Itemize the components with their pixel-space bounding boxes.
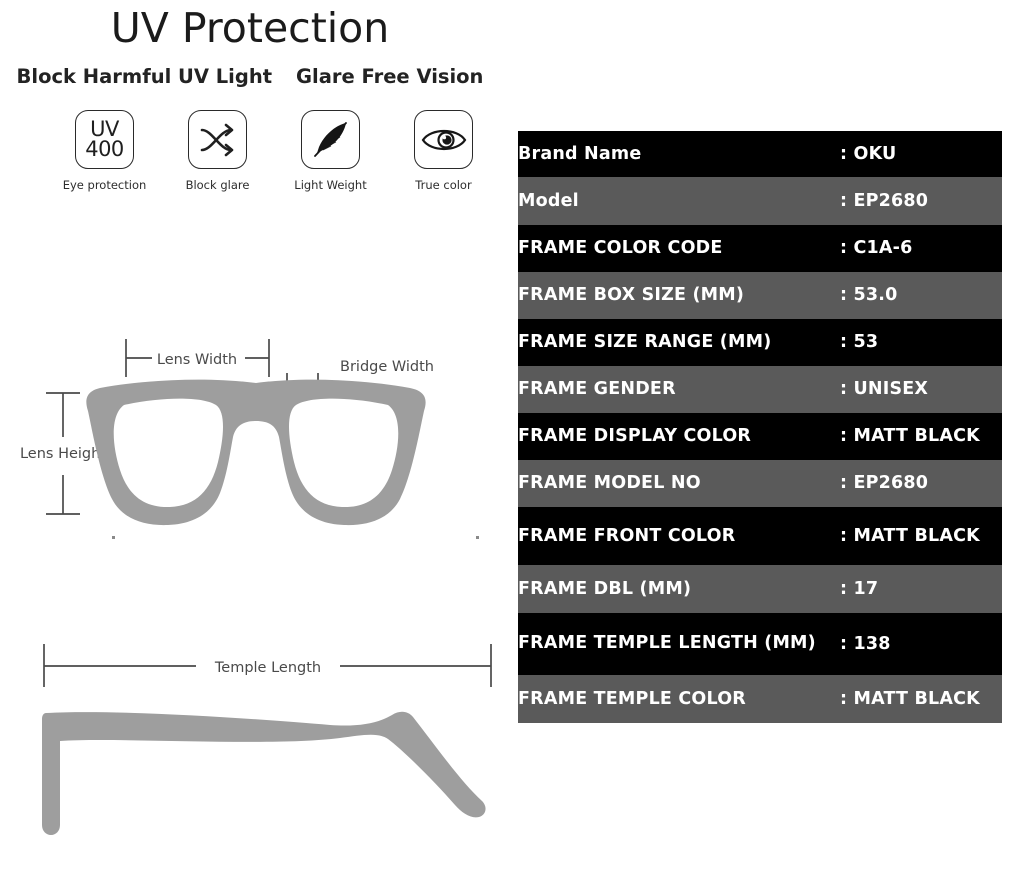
spec-value-frame-front-color: : MATT BLACK	[840, 507, 1002, 565]
spec-value-frame-size-range: : 53	[840, 319, 1002, 366]
feature-true-color: True color	[387, 110, 500, 192]
spec-label-frame-size-range: FRAME SIZE RANGE (MM)	[518, 319, 840, 366]
label-bridge-width: Bridge Width	[340, 359, 434, 375]
spec-label-frame-model-no: FRAME MODEL NO	[518, 460, 840, 507]
feather-icon	[301, 110, 360, 169]
eye-glyph	[421, 125, 467, 155]
table-row: Brand Name : OKU	[518, 131, 1002, 177]
spec-label-frame-dbl: FRAME DBL (MM)	[518, 565, 840, 613]
spec-value-brand-name: : OKU	[840, 131, 1002, 177]
spec-value-frame-model-no: : EP2680	[840, 460, 1002, 507]
spec-label-frame-display-color: FRAME DISPLAY COLOR	[518, 413, 840, 460]
spec-value-model: : EP2680	[840, 177, 1002, 225]
feature-light-weight: Light Weight	[274, 110, 387, 192]
table-row: FRAME SIZE RANGE (MM) : 53	[518, 319, 1002, 366]
spec-value-frame-temple-length: : 138	[840, 613, 1002, 675]
feather-glyph	[310, 119, 352, 161]
subtitle-block-uv: Block Harmful UV Light	[17, 65, 273, 88]
table-row: FRAME FRONT COLOR : MATT BLACK	[518, 507, 1002, 565]
front-diagram-svg: Lens Width Bridge Width Lens Height	[0, 325, 512, 575]
eyeglass-temple-measurement-diagram: Temple Length	[0, 625, 512, 855]
table-row: Model : EP2680	[518, 177, 1002, 225]
table-row: FRAME DBL (MM) : 17	[518, 565, 1002, 613]
temple-diagram-svg: Temple Length	[0, 625, 512, 855]
spec-label-frame-temple-color: FRAME TEMPLE COLOR	[518, 675, 840, 723]
feature-label-block-glare: Block glare	[186, 178, 250, 192]
tick-mark-left	[112, 536, 115, 539]
spec-label-frame-temple-length: FRAME TEMPLE LENGTH (MM)	[518, 613, 840, 675]
table-row: FRAME BOX SIZE (MM) : 53.0	[518, 272, 1002, 319]
spec-label-frame-color-code: FRAME COLOR CODE	[518, 225, 840, 272]
spec-label-frame-box-size: FRAME BOX SIZE (MM)	[518, 272, 840, 319]
feature-label-true-color: True color	[415, 178, 471, 192]
shuffle-arrows-glyph	[198, 122, 238, 158]
spec-label-model: Model	[518, 177, 840, 225]
spec-label-frame-front-color: FRAME FRONT COLOR	[518, 507, 840, 565]
table-row: FRAME TEMPLE LENGTH (MM) : 138	[518, 613, 1002, 675]
feature-label-light-weight: Light Weight	[294, 178, 366, 192]
spec-label-brand-name: Brand Name	[518, 131, 840, 177]
label-lens-width: Lens Width	[157, 352, 237, 368]
spec-value-frame-color-code: : C1A-6	[840, 225, 1002, 272]
table-row: FRAME COLOR CODE : C1A-6	[518, 225, 1002, 272]
table-row: FRAME MODEL NO : EP2680	[518, 460, 1002, 507]
spec-value-frame-dbl: : 17	[840, 565, 1002, 613]
temple-arm-shape	[42, 712, 486, 835]
feature-label-eye-protection: Eye protection	[63, 178, 147, 192]
shuffle-arrows-icon	[188, 110, 247, 169]
table-row: FRAME GENDER : UNISEX	[518, 366, 1002, 413]
spec-value-frame-temple-color: : MATT BLACK	[840, 675, 1002, 723]
feature-block-glare: Block glare	[161, 110, 274, 192]
tick-mark-right	[476, 536, 479, 539]
spec-label-frame-gender: FRAME GENDER	[518, 366, 840, 413]
table-row: FRAME TEMPLE COLOR : MATT BLACK	[518, 675, 1002, 723]
uv400-icon: UV 400	[75, 110, 134, 169]
spec-table-body: Brand Name : OKU Model : EP2680 FRAME CO…	[518, 131, 1002, 723]
product-specification-table: Brand Name : OKU Model : EP2680 FRAME CO…	[518, 131, 1002, 723]
uv400-icon-line2: 400	[85, 140, 124, 159]
eyeglass-front-measurement-diagram: Lens Width Bridge Width Lens Height	[0, 325, 512, 575]
spec-value-frame-gender: : UNISEX	[840, 366, 1002, 413]
feature-icons-row: UV 400 Eye protection Block glare	[48, 110, 500, 192]
uv-protection-panel: UV Protection Block Harmful UV Light Gla…	[0, 0, 512, 886]
label-lens-height: Lens Height	[20, 446, 106, 462]
spec-value-frame-display-color: : MATT BLACK	[840, 413, 1002, 460]
page-title: UV Protection	[0, 4, 500, 52]
label-temple-length: Temple Length	[214, 660, 321, 676]
eyeglass-frame-shape	[86, 380, 425, 526]
table-row: FRAME DISPLAY COLOR : MATT BLACK	[518, 413, 1002, 460]
subtitle-row: Block Harmful UV Light Glare Free Vision	[0, 65, 500, 88]
feature-eye-protection: UV 400 Eye protection	[48, 110, 161, 192]
subtitle-glare-free: Glare Free Vision	[296, 65, 483, 88]
eye-icon	[414, 110, 473, 169]
spec-value-frame-box-size: : 53.0	[840, 272, 1002, 319]
